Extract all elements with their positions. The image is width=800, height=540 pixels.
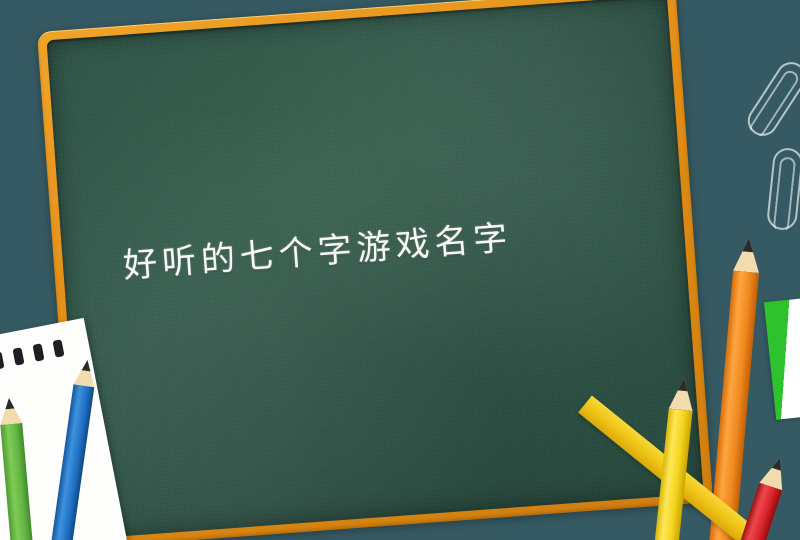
orange-pencil bbox=[709, 237, 761, 540]
paperclip-lower-icon bbox=[766, 147, 800, 232]
paperclip-upper-icon bbox=[742, 56, 800, 141]
blue-pencil-tip bbox=[73, 359, 97, 388]
yellow-pencil-lead bbox=[671, 377, 696, 392]
orange-pencil-lead bbox=[735, 237, 762, 253]
orange-pencil-tip bbox=[733, 237, 762, 273]
chalk-title-text: 好听的七个字游戏名字 bbox=[122, 219, 514, 287]
blackboard-surface: 好听的七个字游戏名字 bbox=[47, 0, 704, 539]
red-pencil-lead bbox=[765, 454, 792, 473]
blue-pencil-lead bbox=[76, 359, 98, 373]
scene-canvas: 好听的七个字游戏名字 bbox=[0, 0, 800, 540]
green-pencil-lead bbox=[0, 397, 21, 410]
yellow-pencil-tip bbox=[669, 377, 696, 411]
green-white-note-card bbox=[764, 298, 800, 420]
blackboard: 好听的七个字游戏名字 bbox=[37, 0, 713, 540]
green-pencil-tip bbox=[0, 397, 22, 425]
